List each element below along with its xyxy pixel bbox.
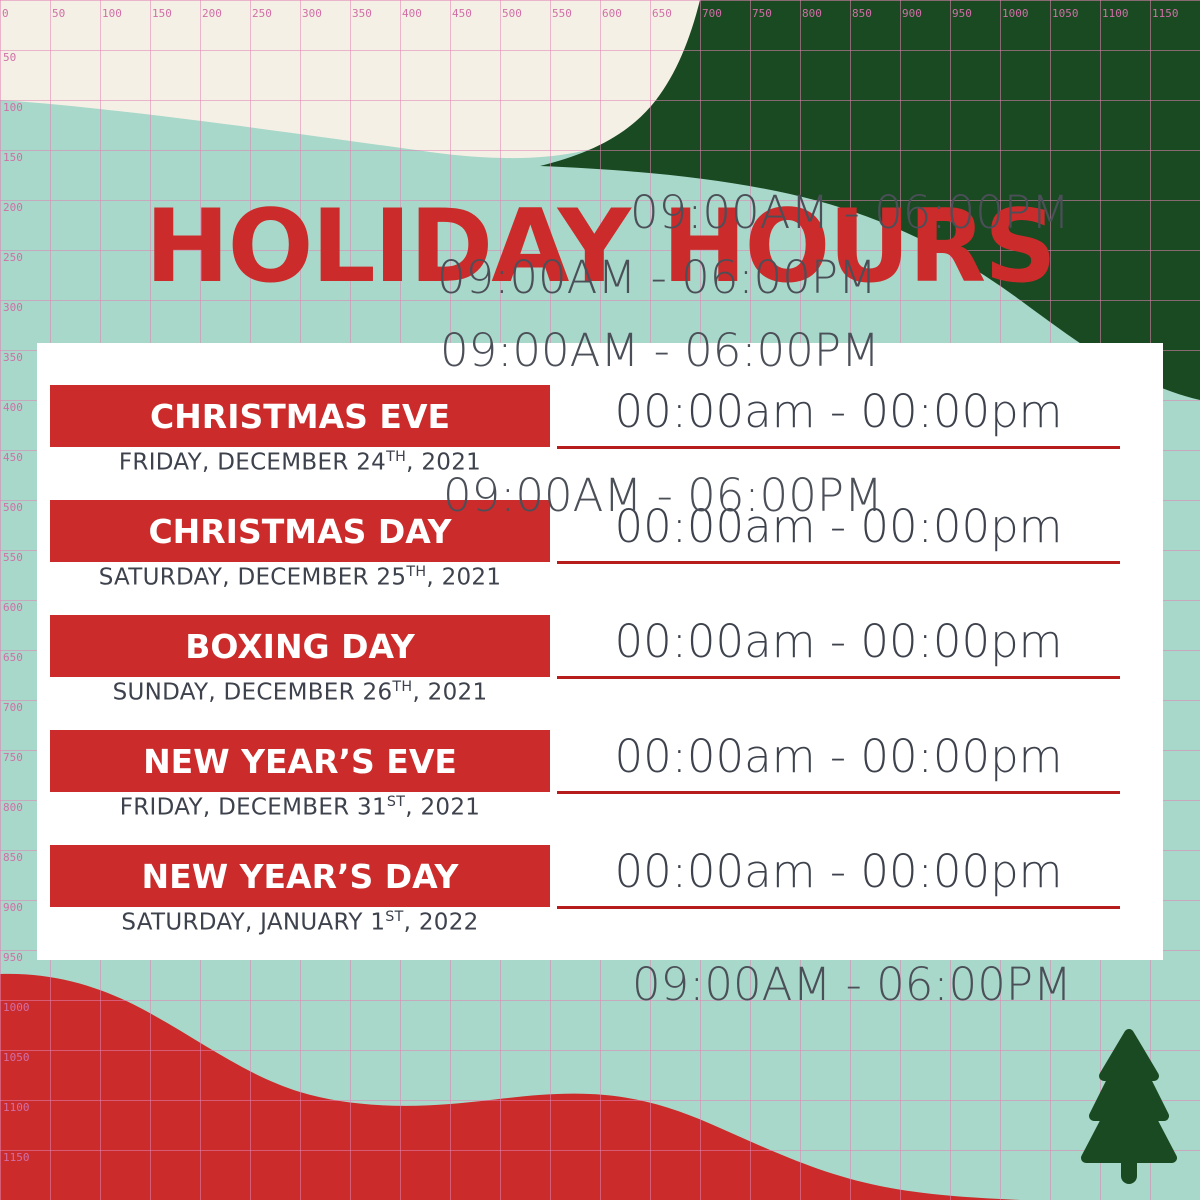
date-ordinal: TH xyxy=(392,679,412,695)
holiday-date-label: FRIDAY, DECEMBER 31ST, 2021 xyxy=(50,794,550,821)
date-prefix: SATURDAY, DECEMBER 25 xyxy=(99,565,407,591)
floating-hours-text-3: 09:00AM - 06:00PM xyxy=(440,328,880,373)
hours-value: 00:00am - 00:00pm xyxy=(557,613,1120,671)
schedule-row: BOXING DAY SUNDAY, DECEMBER 26TH, 2021 0… xyxy=(37,615,1163,730)
date-prefix: FRIDAY, DECEMBER 31 xyxy=(120,795,387,821)
christmas-tree-icon xyxy=(1076,1018,1182,1188)
holiday-name-banner: NEW YEAR’S EVE xyxy=(50,730,550,792)
hours-underline xyxy=(557,676,1120,679)
date-prefix: SUNDAY, DECEMBER 26 xyxy=(113,680,393,706)
holiday-name-label: CHRISTMAS EVE xyxy=(150,400,450,433)
hours-underline xyxy=(557,561,1120,564)
date-prefix: FRIDAY, DECEMBER 24 xyxy=(119,450,386,476)
floating-hours-text-5: 09:00AM - 06:00PM xyxy=(632,962,1072,1007)
date-suffix: , 2021 xyxy=(405,795,480,821)
hours-underline xyxy=(557,446,1120,449)
date-suffix: , 2022 xyxy=(404,910,479,936)
hours-cell: 00:00am - 00:00pm xyxy=(557,843,1120,901)
hours-underline xyxy=(557,906,1120,909)
hours-underline xyxy=(557,791,1120,794)
hours-value: 00:00am - 00:00pm xyxy=(557,843,1120,901)
date-ordinal: ST xyxy=(385,909,403,925)
holiday-name-label: NEW YEAR’S DAY xyxy=(142,860,459,893)
holiday-name-banner: NEW YEAR’S DAY xyxy=(50,845,550,907)
hours-cell: 00:00am - 00:00pm xyxy=(557,613,1120,671)
poster-canvas: 0501001502002503003504004505005506006507… xyxy=(0,0,1200,1200)
date-prefix: SATURDAY, JANUARY 1 xyxy=(121,910,385,936)
hours-value: 00:00am - 00:00pm xyxy=(557,383,1120,441)
holiday-date-label: SATURDAY, JANUARY 1ST, 2022 xyxy=(50,909,550,936)
schedule-row: NEW YEAR’S EVE FRIDAY, DECEMBER 31ST, 20… xyxy=(37,730,1163,845)
floating-hours-text-2: 09:00AM - 06:00PM xyxy=(437,255,877,300)
date-ordinal: TH xyxy=(406,564,426,580)
date-suffix: , 2021 xyxy=(426,565,501,591)
hours-cell: 00:00am - 00:00pm xyxy=(557,728,1120,786)
schedule-row: NEW YEAR’S DAY SATURDAY, JANUARY 1ST, 20… xyxy=(37,845,1163,960)
holiday-date-label: SATURDAY, DECEMBER 25TH, 2021 xyxy=(50,564,550,591)
hours-value: 00:00am - 00:00pm xyxy=(557,728,1120,786)
holiday-name-label: CHRISTMAS DAY xyxy=(148,515,451,548)
holiday-name-banner: CHRISTMAS EVE xyxy=(50,385,550,447)
floating-hours-text-4: 09:00AM - 06:00PM xyxy=(443,473,883,518)
holiday-name-label: BOXING DAY xyxy=(185,630,415,663)
hours-cell: 00:00am - 00:00pm xyxy=(557,383,1120,441)
date-suffix: , 2021 xyxy=(412,680,487,706)
holiday-name-banner: BOXING DAY xyxy=(50,615,550,677)
holiday-name-label: NEW YEAR’S EVE xyxy=(143,745,457,778)
schedule-panel: CHRISTMAS EVE FRIDAY, DECEMBER 24TH, 202… xyxy=(37,343,1163,960)
floating-hours-text-1: 09:00AM - 06:00PM xyxy=(630,190,1070,235)
holiday-date-label: SUNDAY, DECEMBER 26TH, 2021 xyxy=(50,679,550,706)
date-ordinal: TH xyxy=(386,449,406,465)
date-ordinal: ST xyxy=(387,794,405,810)
